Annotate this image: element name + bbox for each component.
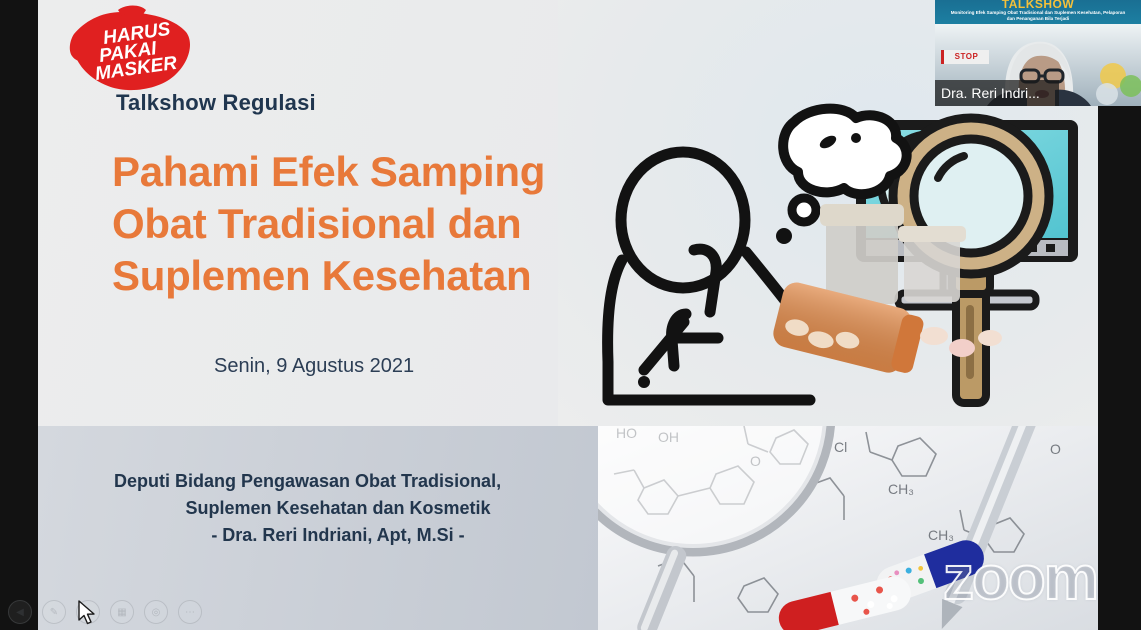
- participant-video-thumbnail[interactable]: TALKSHOW Monitoring Efek Samping Obat Tr…: [935, 0, 1141, 106]
- speaker-line-1: Deputi Bidang Pengawasan Obat Tradisiona…: [78, 468, 598, 495]
- slide-date: Senin, 9 Agustus 2021: [214, 355, 414, 378]
- grid-view-button[interactable]: ▦: [110, 600, 134, 624]
- letterbox-left: [0, 0, 38, 630]
- zoom-watermark: zoom: [943, 548, 1097, 610]
- previous-slide-button[interactable]: ◀: [8, 600, 32, 624]
- chemistry-photo: HO OH O Cl CH₃ CH₃ O: [598, 426, 1098, 630]
- letterbox-right: [1098, 106, 1141, 630]
- slide-speaker-block: Deputi Bidang Pengawasan Obat Tradisiona…: [78, 468, 598, 549]
- more-options-button[interactable]: ⋯: [178, 600, 202, 624]
- slide-title-line-2: Obat Tradisional dan: [112, 198, 652, 250]
- slide-controls-toolbar[interactable]: ◀ ✎ ▶ ▦ ◎ ⋯: [8, 600, 202, 624]
- zoom-view-button[interactable]: ◎: [144, 600, 168, 624]
- participant-name-label: Dra. Reri Indri...: [935, 80, 1059, 106]
- person-dot: [638, 376, 650, 388]
- video-body: STOP Dra. Reri Indri...: [935, 24, 1141, 106]
- stop-badge: STOP: [941, 50, 989, 64]
- mouse-cursor: [78, 600, 96, 630]
- screen: HARUS PAKAI MASKER Talkshow Regulasi Pah…: [0, 0, 1141, 630]
- annotate-pen-button[interactable]: ✎: [42, 600, 66, 624]
- slide-title: Pahami Efek Samping Obat Tradisional dan…: [112, 146, 652, 302]
- slide-title-line-1: Pahami Efek Samping: [112, 146, 652, 198]
- speaker-line-3: - Dra. Reri Indriani, Apt, M.Si -: [78, 522, 598, 549]
- slide-illustration: [598, 100, 1098, 430]
- harus-pakai-masker-logo: HARUS PAKAI MASKER: [66, 4, 206, 100]
- speaker-line-2: Suplemen Kesehatan dan Kosmetik: [78, 495, 598, 522]
- chem-label-ch3-1: CH₃: [888, 481, 914, 497]
- video-banner-subtitle: Monitoring Efek Samping Obat Tradisional…: [935, 10, 1141, 22]
- chem-label-ch3-2: CH₃: [928, 527, 954, 543]
- chem-label-o2: O: [1050, 441, 1061, 457]
- chem-label-cl: Cl: [834, 439, 847, 455]
- thinking-person-icon: [608, 152, 812, 400]
- video-banner: TALKSHOW Monitoring Efek Samping Obat Tr…: [935, 0, 1141, 24]
- slide-kicker: Talkshow Regulasi: [116, 90, 316, 116]
- slide-title-line-3: Suplemen Kesehatan: [112, 250, 652, 302]
